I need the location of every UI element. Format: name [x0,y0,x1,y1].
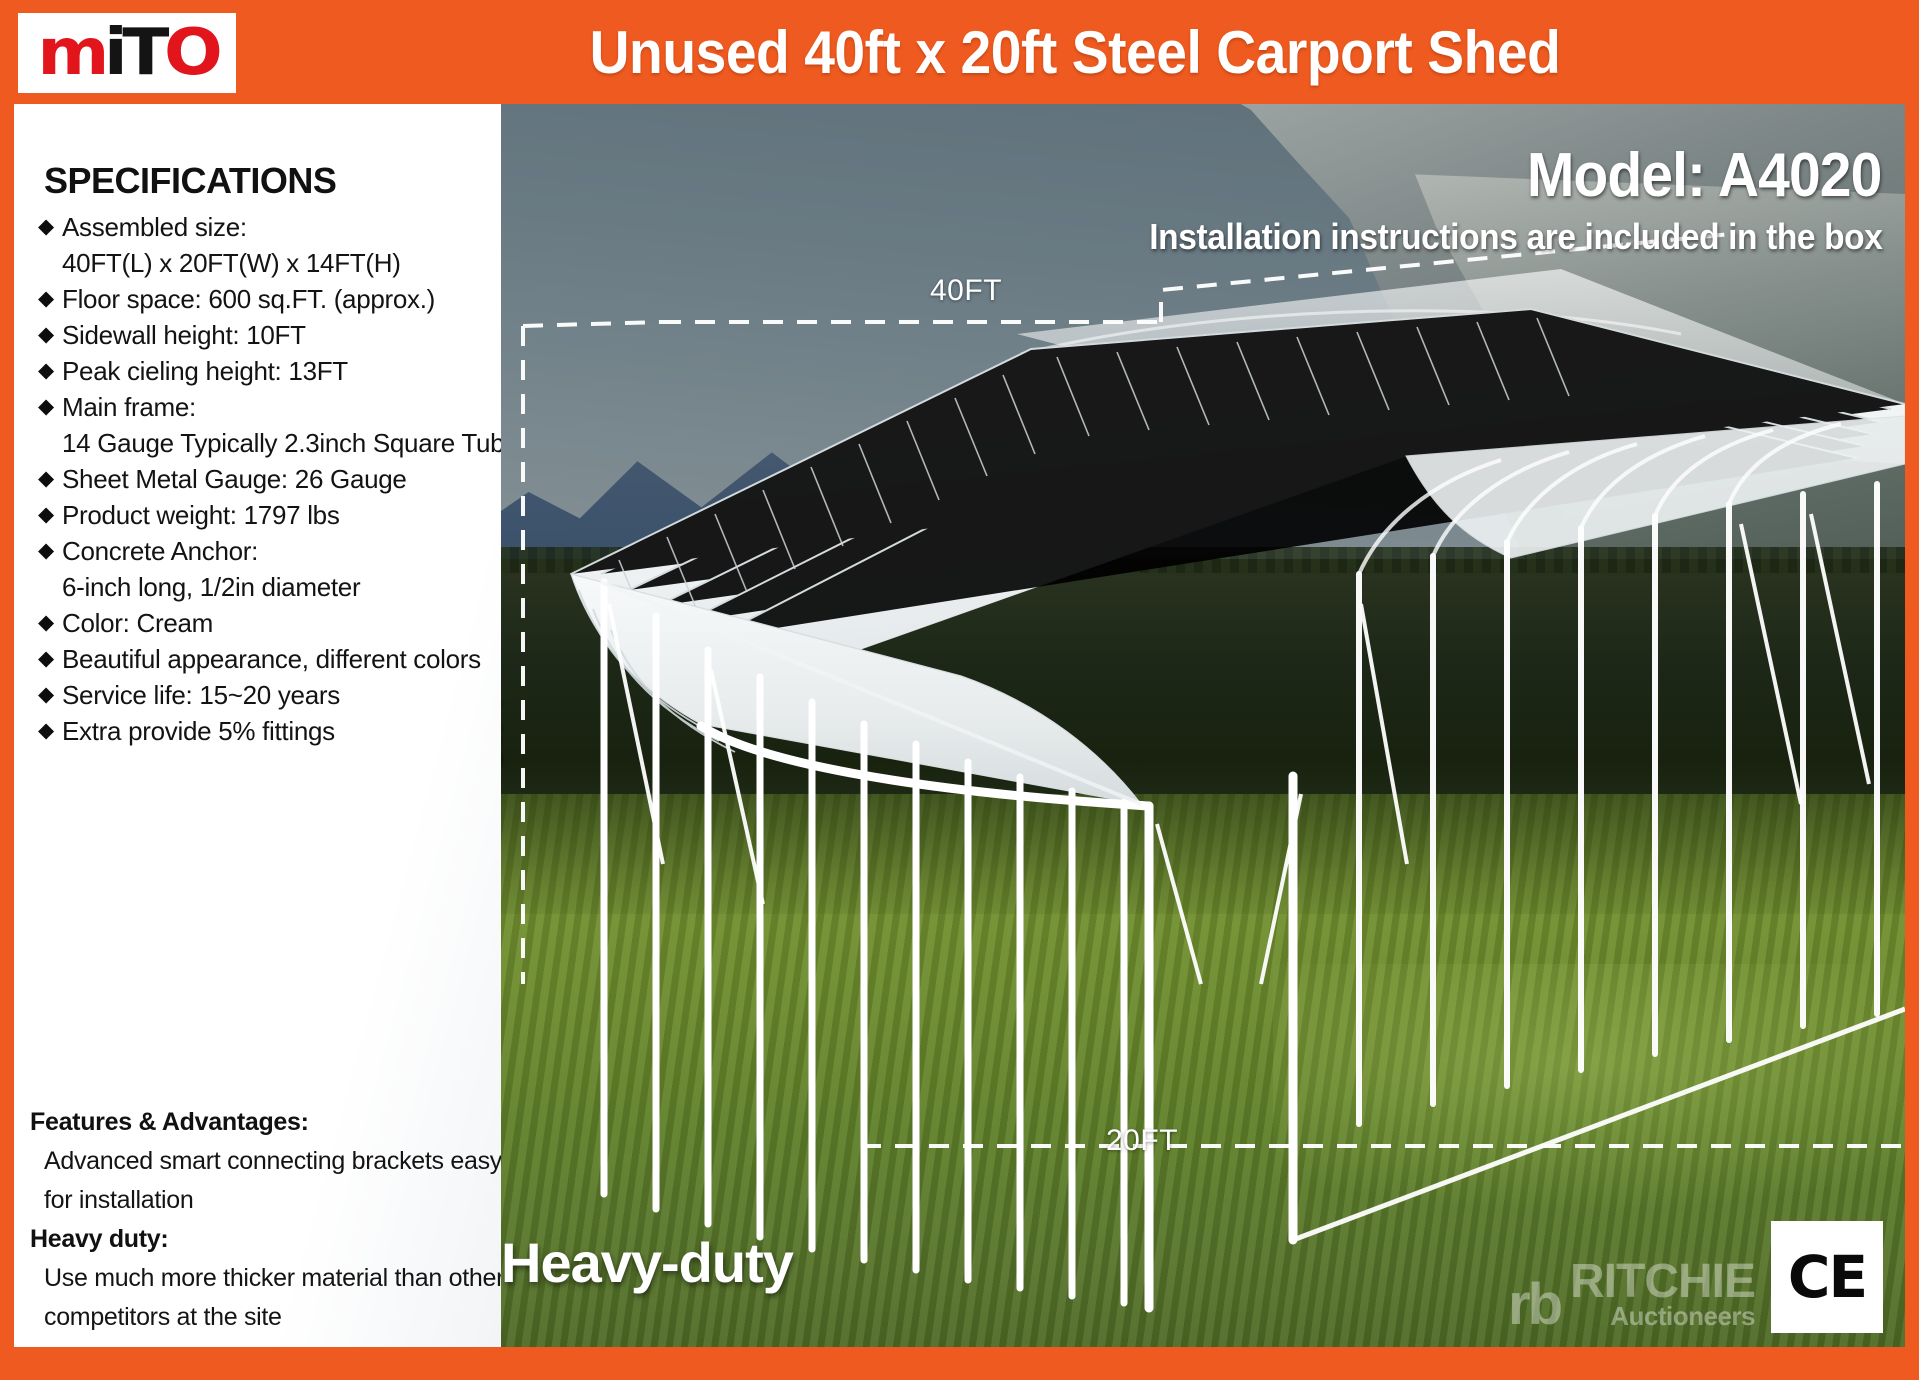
spec-item: ◆ Floor space: 600 sq.FT. (approx.) [38,284,508,314]
spec-item: ◆ Concrete Anchor: 6-inch long, 1/2in di… [38,536,508,602]
logo-letter-m: m [37,16,104,90]
spec-item: ◆ Sheet Metal Gauge: 26 Gauge [38,464,508,494]
product-spec-poster: miTO Unused 40ft x 20ft Steel Carport Sh… [0,0,1919,1380]
features-line-2: for installation [44,1188,500,1213]
ritchie-watermark: rb RITCHIE Auctioneers [1508,1260,1755,1329]
bullet-diamond-icon: ◆ [38,608,62,638]
carport-illustration [501,104,1905,1347]
installation-note: Installation instructions are included i… [1150,216,1883,258]
spec-item: ◆ Main frame: 14 Gauge Typically 2.3inch… [38,392,508,458]
spec-label: Main frame: [62,392,196,422]
spec-label: Service life: 15~20 years [62,680,340,710]
dimension-label-width: 20FT [1106,1124,1178,1158]
specifications-heading: SPECIFICATIONS [44,160,336,202]
bullet-diamond-icon: ◆ [38,500,62,530]
spec-label: Color: Cream [62,608,213,638]
specifications-list: ◆ Assembled size: 40FT(L) x 20FT(W) x 14… [38,212,508,752]
bullet-diamond-icon: ◆ [38,464,62,494]
spec-sublabel: 40FT(L) x 20FT(W) x 14FT(H) [62,248,508,278]
spec-label: Assembled size: [62,212,247,242]
bullet-diamond-icon: ◆ [38,356,62,386]
spec-sublabel: 14 Gauge Typically 2.3inch Square Tube [62,428,508,458]
spec-item: ◆ Sidewall height: 10FT [38,320,508,350]
features-heading: Features & Advantages: [30,1110,500,1135]
page-title: Unused 40ft x 20ft Steel Carport Shed [316,8,1834,96]
bullet-diamond-icon: ◆ [38,644,62,674]
poster-body: SPECIFICATIONS ◆ Assembled size: 40FT(L)… [0,104,1919,1380]
bullet-diamond-icon: ◆ [38,680,62,710]
spec-label: Peak cieling height: 13FT [62,356,348,386]
bullet-diamond-icon: ◆ [38,716,62,746]
bullet-diamond-icon: ◆ [38,392,62,422]
specifications-panel: SPECIFICATIONS ◆ Assembled size: 40FT(L)… [14,104,501,1347]
watermark-rb-logo: rb [1508,1280,1560,1329]
features-line-1: Advanced smart connecting brackets easy [44,1149,500,1174]
spec-item: ◆ Service life: 15~20 years [38,680,508,710]
logo-letter-o: O [164,16,217,90]
spec-item: ◆ Extra provide 5% fittings [38,716,508,746]
spec-label: Extra provide 5% fittings [62,716,335,746]
spec-label: Floor space: 600 sq.FT. (approx.) [62,284,435,314]
spec-item: ◆ Beautiful appearance, different colors [38,644,508,674]
spec-label: Sidewall height: 10FT [62,320,306,350]
spec-label: Product weight: 1797 lbs [62,500,340,530]
bullet-diamond-icon: ◆ [38,320,62,350]
bullet-diamond-icon: ◆ [38,536,62,566]
brand-logo-text: miTO [37,21,217,85]
ce-mark-text: CE [1788,1243,1866,1311]
spec-item: ◆ Color: Cream [38,608,508,638]
heavy-duty-subheading: Heavy duty: [30,1227,500,1252]
heavy-duty-caption: Heavy-duty [501,1230,793,1295]
bullet-diamond-icon: ◆ [38,212,62,242]
spec-item: ◆ Product weight: 1797 lbs [38,500,508,530]
spec-label: Concrete Anchor: [62,536,258,566]
brand-logo: miTO [18,13,236,93]
spec-item: ◆ Peak cieling height: 13FT [38,356,508,386]
poster-header: miTO Unused 40ft x 20ft Steel Carport Sh… [0,0,1919,104]
carport-rear-rail [1293,1009,1905,1240]
spec-label: Sheet Metal Gauge: 26 Gauge [62,464,407,494]
product-photo: Model: A4020 Installation instructions a… [501,104,1905,1347]
watermark-subtitle: Auctioneers [1610,1303,1755,1329]
features-line-4: competitors at the site [44,1305,500,1330]
spec-label: Beautiful appearance, different colors [62,644,481,674]
spec-item: ◆ Assembled size: 40FT(L) x 20FT(W) x 14… [38,212,508,278]
watermark-name: RITCHIE [1570,1260,1755,1303]
features-advantages-block: Features & Advantages: Advanced smart co… [30,1110,500,1344]
bullet-diamond-icon: ◆ [38,284,62,314]
logo-letters-it: iT [104,16,164,90]
carport-corner-posts [1149,776,1293,1308]
ce-mark-badge: CE [1771,1221,1883,1333]
features-line-3: Use much more thicker material than othe… [44,1266,500,1291]
dimension-label-length: 40FT [930,274,1002,308]
dimension-label-height: 14FT [501,694,509,768]
spec-sublabel: 6-inch long, 1/2in diameter [62,572,508,602]
model-label: Model: A4020 [1526,140,1881,211]
